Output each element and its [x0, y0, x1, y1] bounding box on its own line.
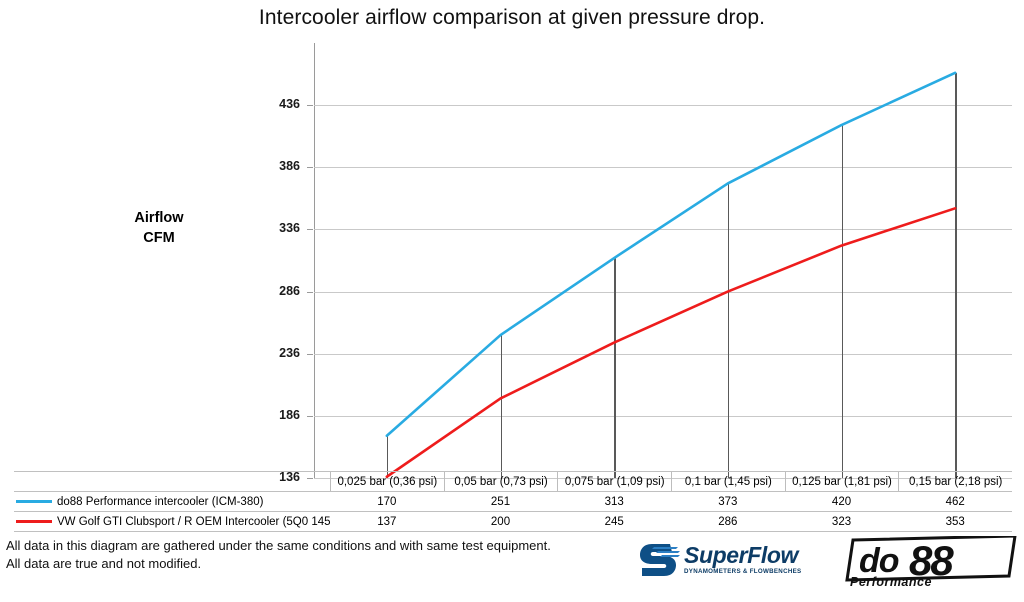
table-cell-value: 373 — [671, 492, 785, 511]
table-column-header: 0,025 bar (0,36 psi) — [330, 472, 444, 491]
superflow-logo: SuperFlow DYNAMOMETERS & FLOWBENCHES — [640, 539, 825, 581]
table-column-header: 0,15 bar (2,18 psi) — [898, 472, 1012, 491]
y-axis-tick-label: 186 — [258, 408, 300, 422]
superflow-tagline: DYNAMOMETERS & FLOWBENCHES — [684, 568, 801, 576]
y-axis-tick-mark — [307, 105, 313, 106]
table-column-header: 0,075 bar (1,09 psi) — [557, 472, 671, 491]
superflow-name: SuperFlow — [684, 544, 801, 567]
page-title: Intercooler airflow comparison at given … — [0, 6, 1024, 30]
footer-note: All data in this diagram are gathered un… — [6, 537, 551, 573]
table-cell-value: 200 — [444, 512, 558, 531]
series-lines — [314, 43, 1012, 478]
y-axis-tick-label: 386 — [258, 159, 300, 173]
table-cell-value: 313 — [557, 492, 671, 511]
table-cell-value: 353 — [898, 512, 1012, 531]
legend-label-do88: do88 Performance intercooler (ICM-380) — [57, 496, 263, 508]
table-row: VW Golf GTI Clubsport / R OEM Intercoole… — [14, 512, 1012, 531]
superflow-mark-icon — [640, 541, 680, 579]
legend-item-vw: VW Golf GTI Clubsport / R OEM Intercoole… — [14, 512, 330, 531]
legend-swatch-red — [16, 520, 52, 523]
table-row: do88 Performance intercooler (ICM-380) 1… — [14, 492, 1012, 511]
table-rule-bottom — [14, 531, 1012, 532]
y-axis-title-line2: CFM — [100, 228, 218, 248]
y-axis-title-line1: Airflow — [100, 208, 218, 228]
y-axis-tick-mark — [307, 229, 313, 230]
y-axis-tick-label: 336 — [258, 221, 300, 235]
series-line-do88 — [387, 73, 955, 436]
table-column-header: 0,1 bar (1,45 psi) — [671, 472, 785, 491]
table-header-row: 0,025 bar (0,36 psi)0,05 bar (0,73 psi)0… — [14, 472, 1012, 491]
y-axis-tick-label: 286 — [258, 284, 300, 298]
y-axis-tick-mark — [307, 354, 313, 355]
table-cell-value: 251 — [444, 492, 558, 511]
table-column-header: 0,125 bar (1,81 psi) — [785, 472, 899, 491]
legend-swatch-blue — [16, 500, 52, 503]
y-axis-tick-label: 436 — [258, 97, 300, 111]
table-corner-cell — [14, 472, 330, 491]
table-cell-value: 286 — [671, 512, 785, 531]
y-axis-tick-label: 236 — [258, 346, 300, 360]
data-table: 0,025 bar (0,36 psi)0,05 bar (0,73 psi)0… — [14, 471, 1012, 532]
table-column-header: 0,05 bar (0,73 psi) — [444, 472, 558, 491]
footer-line-2: All data are true and not modified. — [6, 555, 551, 573]
do88-logo: do 88 Performance — [845, 536, 1017, 588]
series-line-vw — [387, 208, 955, 476]
table-cell-value: 245 — [557, 512, 671, 531]
plot-area — [314, 43, 1012, 478]
legend-item-do88: do88 Performance intercooler (ICM-380) — [14, 492, 330, 511]
footer-line-1: All data in this diagram are gathered un… — [6, 537, 551, 555]
table-cell-value: 323 — [785, 512, 899, 531]
superflow-wordmark: SuperFlow DYNAMOMETERS & FLOWBENCHES — [684, 544, 801, 576]
y-axis-title: Airflow CFM — [100, 208, 218, 248]
chart-page: Intercooler airflow comparison at given … — [0, 0, 1024, 602]
legend-label-vw: VW Golf GTI Clubsport / R OEM Intercoole… — [57, 516, 330, 528]
table-cell-value: 137 — [330, 512, 444, 531]
y-axis-tick-mark — [307, 167, 313, 168]
y-axis-tick-mark — [307, 416, 313, 417]
y-axis-tick-mark — [307, 292, 313, 293]
table-cell-value: 462 — [898, 492, 1012, 511]
table-cell-value: 170 — [330, 492, 444, 511]
table-cell-value: 420 — [785, 492, 899, 511]
do88-sub: Performance — [850, 575, 932, 589]
superflow-swoosh-icon — [640, 541, 680, 579]
